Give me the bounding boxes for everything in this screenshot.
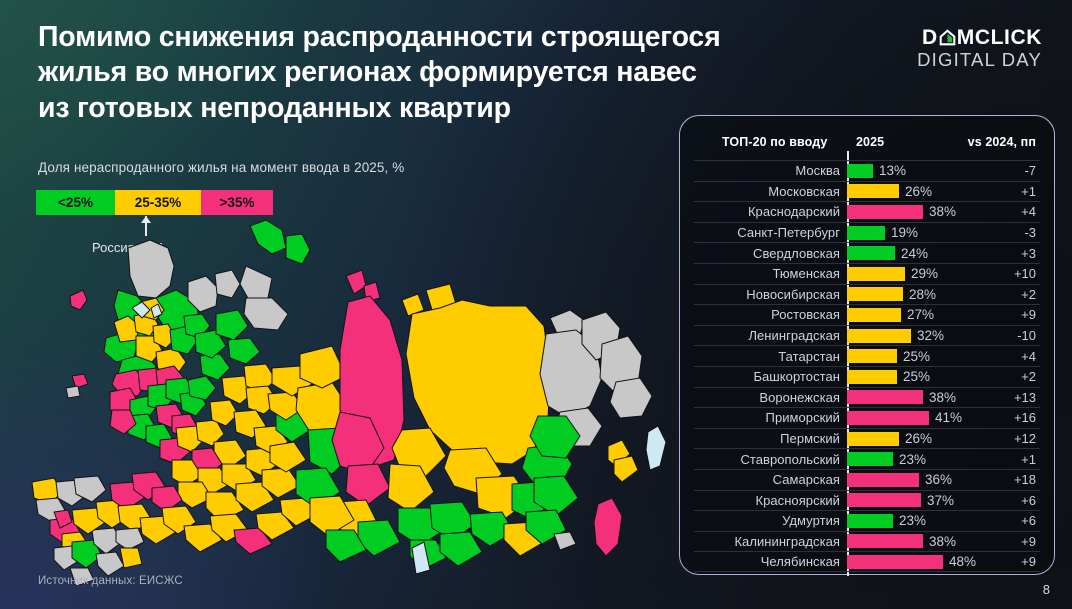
delta-value: -7 [1024, 163, 1036, 178]
delta-value: +9 [1021, 534, 1036, 549]
value-bar [847, 473, 919, 487]
value-label: 37% [927, 493, 954, 508]
region-name: Приморский [694, 410, 840, 425]
value-label: 48% [949, 554, 976, 569]
bar-cell: 48% [847, 552, 976, 571]
house-icon [939, 29, 956, 46]
table-row[interactable]: Ленинградская32%-10 [694, 325, 1040, 346]
region-name: Воронежская [694, 390, 840, 405]
bar-cell: 32% [847, 326, 944, 346]
delta-value: +4 [1021, 204, 1036, 219]
delta-value: -10 [1017, 328, 1036, 343]
bar-cell: 25% [847, 346, 930, 366]
value-bar [847, 267, 905, 281]
delta-value: +2 [1021, 369, 1036, 384]
delta-value: +6 [1021, 493, 1036, 508]
region-name: Тюменская [694, 266, 840, 281]
brand-logo: D MCLICK DIGITAL DAY [917, 27, 1042, 71]
region-name: Башкортостан [694, 369, 840, 384]
table-header-row: ТОП-20 по вводу 2025 vs 2024, пп [694, 124, 1040, 160]
table-row[interactable]: Калининградская38%+9 [694, 531, 1040, 552]
table-row[interactable]: Московская26%+1 [694, 181, 1040, 202]
table-row[interactable]: Краснодарский38%+4 [694, 201, 1040, 222]
table-row[interactable]: Санкт-Петербург19%-3 [694, 222, 1040, 243]
value-label: 13% [879, 163, 906, 178]
value-bar [847, 452, 893, 466]
bar-cell: 38% [847, 388, 956, 408]
value-bar [847, 226, 885, 240]
region-name: Ленинградская [694, 328, 840, 343]
value-bar [847, 370, 897, 384]
region-name: Татарстан [694, 349, 840, 364]
title-line-1: Помимо снижения распроданности строящего… [38, 20, 668, 55]
bar-cell: 13% [847, 161, 906, 181]
table-row[interactable]: Приморский41%+16 [694, 407, 1040, 428]
bar-cell: 37% [847, 491, 954, 511]
value-bar [847, 555, 943, 569]
value-bar [847, 287, 903, 301]
map-regions [32, 220, 666, 585]
bar-cell: 23% [847, 449, 926, 469]
value-label: 27% [907, 307, 934, 322]
table-row[interactable]: Удмуртия23%+6 [694, 510, 1040, 531]
value-label: 38% [929, 534, 956, 549]
bar-cell: 38% [847, 202, 956, 222]
top20-table-panel: ТОП-20 по вводу 2025 vs 2024, пп Москва1… [679, 115, 1055, 575]
table-row[interactable]: Татарстан25%+4 [694, 345, 1040, 366]
value-label: 38% [929, 390, 956, 405]
region-name: Новосибирская [694, 287, 840, 302]
logo-text-after: MCLICK [957, 27, 1042, 48]
delta-value: +13 [1014, 390, 1036, 405]
region-name: Московская [694, 184, 840, 199]
value-bar [847, 184, 899, 198]
table-row[interactable]: Ростовская27%+9 [694, 304, 1040, 325]
delta-value: +12 [1014, 431, 1036, 446]
region-name: Удмуртия [694, 513, 840, 528]
region-name: Свердловская [694, 246, 840, 261]
value-bar [847, 534, 923, 548]
bar-cell: 29% [847, 264, 938, 284]
value-bar [847, 205, 923, 219]
russia-choropleth-map [10, 130, 680, 585]
table-row[interactable]: Красноярский37%+6 [694, 490, 1040, 511]
title-line-2: жилья во многих регионах формируется нав… [38, 55, 668, 90]
region-name: Челябинская [694, 554, 840, 569]
bar-cell: 23% [847, 511, 926, 531]
logo-text-before: D [922, 27, 938, 48]
value-label: 26% [905, 431, 932, 446]
region-name: Пермский [694, 431, 840, 446]
table-row[interactable]: Свердловская24%+3 [694, 242, 1040, 263]
bar-cell: 36% [847, 470, 952, 490]
bar-cell: 19% [847, 223, 918, 243]
delta-value: -3 [1024, 225, 1036, 240]
logo-wordmark: D MCLICK [917, 27, 1042, 48]
value-label: 28% [909, 287, 936, 302]
value-bar [847, 411, 929, 425]
value-label: 24% [901, 246, 928, 261]
region-name: Самарская [694, 472, 840, 487]
delta-value: +9 [1021, 554, 1036, 569]
value-label: 41% [935, 410, 962, 425]
table-row[interactable]: Ставропольский23%+1 [694, 448, 1040, 469]
bar-cell: 24% [847, 243, 928, 263]
slide-root: Помимо снижения распроданности строящего… [0, 0, 1072, 609]
value-bar [847, 164, 873, 178]
region-name: Ростовская [694, 307, 840, 322]
map-svg [10, 130, 680, 585]
bar-cell: 26% [847, 182, 932, 202]
delta-value: +6 [1021, 513, 1036, 528]
table-row[interactable]: Пермский26%+12 [694, 428, 1040, 449]
region-name: Краснодарский [694, 204, 840, 219]
source-note: Источник данных: ЕИСЖС [38, 575, 183, 587]
column-header-delta: vs 2024, пп [968, 135, 1036, 149]
delta-value: +4 [1021, 349, 1036, 364]
table-body: Москва13%-7Московская26%+1Краснодарский3… [694, 160, 1040, 572]
delta-value: +9 [1021, 307, 1036, 322]
value-bar [847, 390, 923, 404]
value-label: 32% [917, 328, 944, 343]
bar-cell: 38% [847, 532, 956, 552]
value-bar [847, 329, 911, 343]
delta-value: +2 [1021, 287, 1036, 302]
table-row[interactable]: Новосибирская28%+2 [694, 284, 1040, 305]
region-name: Калининградская [694, 534, 840, 549]
title-line-3: из готовых непроданных квартир [38, 91, 668, 126]
value-label: 29% [911, 266, 938, 281]
delta-value: +10 [1014, 266, 1036, 281]
table-row[interactable]: Воронежская38%+13 [694, 387, 1040, 408]
page-number: 8 [1043, 582, 1050, 597]
column-header-2025: 2025 [856, 135, 884, 149]
value-label: 25% [903, 349, 930, 364]
bar-cell: 41% [847, 408, 962, 428]
value-label: 38% [929, 204, 956, 219]
value-label: 26% [905, 184, 932, 199]
value-label: 23% [899, 513, 926, 528]
region-name: Москва [694, 163, 840, 178]
delta-value: +16 [1014, 410, 1036, 425]
value-label: 25% [903, 369, 930, 384]
table-row[interactable]: Челябинская48%+9 [694, 551, 1040, 572]
bar-cell: 28% [847, 285, 936, 305]
region-name: Санкт-Петербург [694, 225, 840, 240]
value-bar [847, 493, 921, 507]
delta-value: +3 [1021, 246, 1036, 261]
value-label: 23% [899, 452, 926, 467]
bar-cell: 25% [847, 367, 930, 387]
region-name: Ставропольский [694, 452, 840, 467]
value-bar [847, 432, 899, 446]
value-label: 36% [925, 472, 952, 487]
region-name: Красноярский [694, 493, 840, 508]
value-bar [847, 514, 893, 528]
delta-value: +18 [1014, 472, 1036, 487]
column-header-region: ТОП-20 по вводу [722, 135, 827, 149]
value-label: 19% [891, 225, 918, 240]
value-bar [847, 308, 901, 322]
bar-cell: 27% [847, 305, 934, 325]
page-title: Помимо снижения распроданности строящего… [38, 20, 668, 126]
table-row[interactable]: Башкортостан25%+2 [694, 366, 1040, 387]
value-bar [847, 246, 895, 260]
delta-value: +1 [1021, 184, 1036, 199]
value-bar [847, 349, 897, 363]
table-row[interactable]: Самарская36%+18 [694, 469, 1040, 490]
bar-cell: 26% [847, 429, 932, 449]
table-row[interactable]: Тюменская29%+10 [694, 263, 1040, 284]
logo-subtitle: DIGITAL DAY [917, 50, 1042, 71]
delta-value: +1 [1021, 452, 1036, 467]
table-row[interactable]: Москва13%-7 [694, 160, 1040, 181]
